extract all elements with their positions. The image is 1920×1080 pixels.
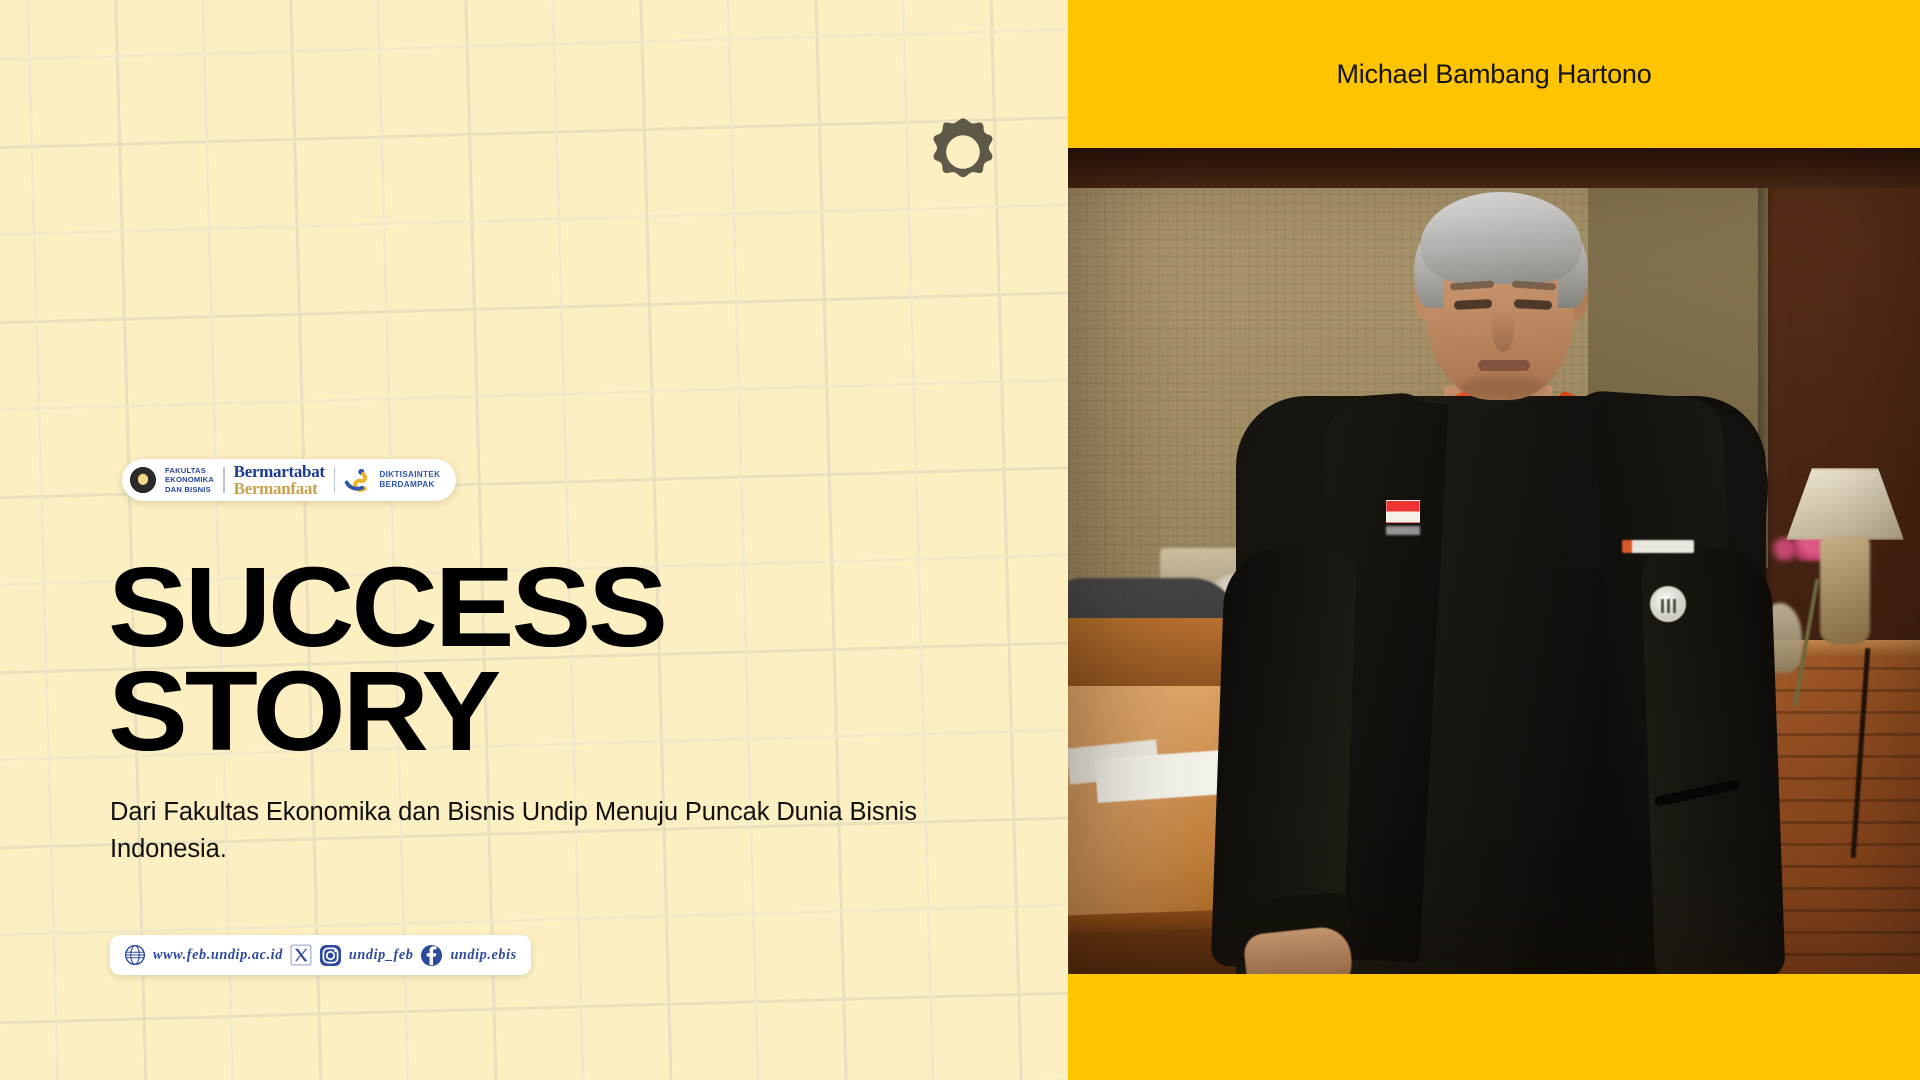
dikti-person-swoosh-icon [344,468,370,492]
flower-ring-icon [928,117,998,187]
website-url[interactable]: www.feb.undip.ac.id [153,947,283,964]
instagram-icon[interactable] [319,944,342,967]
portrait-photo [1068,148,1920,974]
faculty-line-3: DAN BISNIS [165,485,211,494]
university-motto: Bermartabat Bermanfaat [234,463,325,497]
person-name-label: Michael Bambang Hartono [1068,0,1920,148]
faculty-line-1: FAKULTAS [165,466,206,475]
dikti-label: DIKTISAINTEK BERDAMPAK [379,470,440,491]
social-links-bar: www.feb.undip.ac.id undip_feb undip.ebis [110,935,531,975]
page-title: SUCCESS STORY [108,556,665,764]
headline-line-2: STORY [108,648,498,774]
facebook-icon[interactable] [420,944,443,967]
page-subtitle: Dari Fakultas Ekonomika dan Bisnis Undip… [110,794,990,868]
badge-divider-2 [334,467,336,493]
dikti-line-2: BERDAMPAK [379,480,440,490]
dikti-line-1: DIKTISAINTEK [379,470,440,480]
instagram-handle[interactable]: undip_feb [349,947,414,964]
background-grid-pattern-secondary [0,0,1068,1080]
globe-icon[interactable] [124,944,146,966]
faculty-line-2: EKONOMIKA [165,475,214,484]
motto-line-1: Bermartabat [234,463,325,480]
facebook-handle[interactable]: undip.ebis [450,947,516,964]
badge-divider-1 [223,467,225,493]
accreditation-badge: FAKULTAS EKONOMIKA DAN BISNIS Bermartaba… [122,459,456,501]
faculty-name: FAKULTAS EKONOMIKA DAN BISNIS [165,466,214,494]
x-twitter-icon[interactable] [290,944,312,966]
undip-seal-icon [130,467,156,493]
left-content-panel: FAKULTAS EKONOMIKA DAN BISNIS Bermartaba… [0,0,1068,1080]
motto-line-2: Bermanfaat [234,480,325,497]
photo-vignette [1068,148,1920,974]
